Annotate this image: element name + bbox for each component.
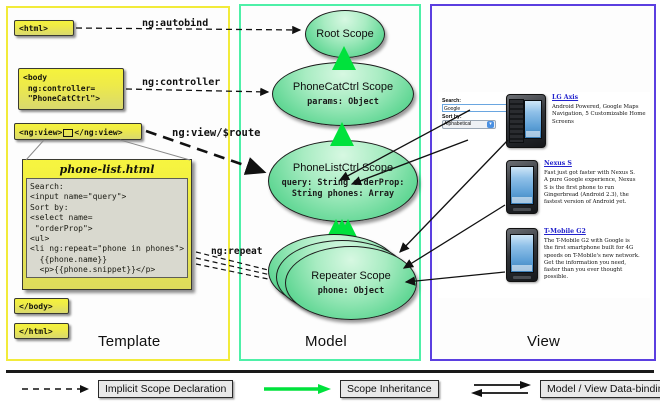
callout-leader-lines <box>26 140 190 160</box>
scope-repeater-props: phone: Object <box>318 286 385 297</box>
edge-label-controller: ng:controller <box>142 77 220 88</box>
edge-label-repeat: ng:repeat <box>211 246 262 257</box>
connector-layer <box>0 0 660 405</box>
edge-label-autobind: ng:autobind <box>142 18 208 29</box>
scope-repeater-name: Repeater Scope <box>311 270 391 282</box>
diagram-canvas: Template <html> <body ng:controller= "Ph… <box>0 0 660 405</box>
scope-repeater: Repeater Scope phone: Object <box>285 246 417 320</box>
edge-ng-controller <box>126 89 268 92</box>
edge-label-route: ng:view/$route <box>172 127 261 139</box>
